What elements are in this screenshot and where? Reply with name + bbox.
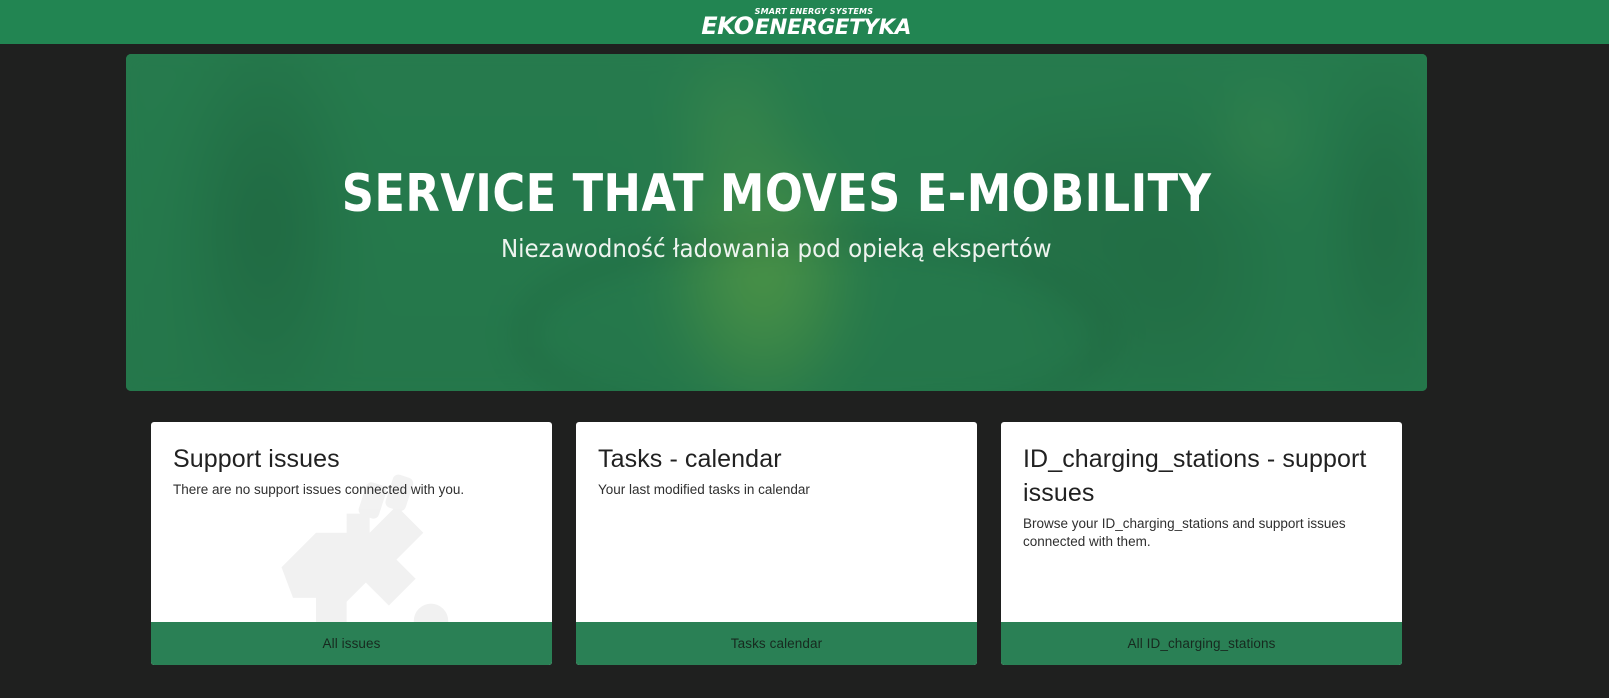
dashboard-cards: Support issues There are no support issu… [151, 422, 1403, 665]
card-description: Your last modified tasks in calendar [598, 481, 955, 499]
hero-title: SERVICE THAT MOVES E-MOBILITY [342, 167, 1212, 221]
all-issues-button[interactable]: All issues [151, 622, 552, 665]
card-title: Tasks - calendar [598, 442, 955, 476]
card-description: There are no support issues connected wi… [173, 481, 530, 499]
tasks-calendar-button[interactable]: Tasks calendar [576, 622, 977, 665]
card-description: Browse your ID_charging_stations and sup… [1023, 515, 1380, 551]
all-id-charging-stations-button[interactable]: All ID_charging_stations [1001, 622, 1402, 665]
card-id-charging-stations: ID_charging_stations - support issues Br… [1001, 422, 1402, 665]
card-support-issues: Support issues There are no support issu… [151, 422, 552, 665]
eko-energetyka-logo[interactable]: EKO SMART ENERGY SYSTEMS ENERGETYKA [701, 8, 907, 38]
logo-primary-text: EKO [701, 14, 753, 38]
card-title: Support issues [173, 442, 530, 476]
card-tasks-calendar: Tasks - calendar Your last modified task… [576, 422, 977, 665]
hero-subtitle: Niezawodność ładowania pod opieką eksper… [501, 234, 1052, 264]
top-bar: EKO SMART ENERGY SYSTEMS ENERGETYKA [0, 0, 1609, 44]
hero-banner: SERVICE THAT MOVES E-MOBILITY Niezawodno… [126, 54, 1427, 391]
logo-secondary-text: ENERGETYKA [755, 17, 911, 38]
card-title: ID_charging_stations - support issues [1023, 442, 1380, 510]
